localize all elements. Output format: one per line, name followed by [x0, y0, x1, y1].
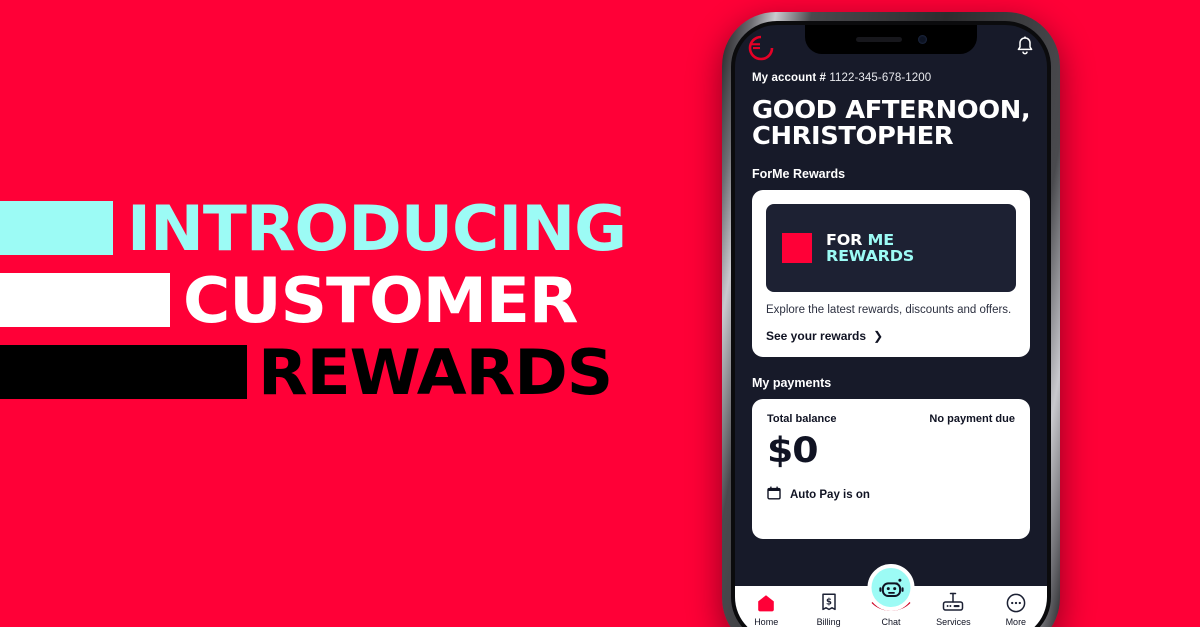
- phone-notch: [805, 25, 977, 54]
- tab-home[interactable]: Home: [735, 591, 797, 627]
- chat-bot-icon[interactable]: [868, 564, 915, 611]
- promo-line-3: REWARDS: [0, 340, 700, 408]
- notification-bell-icon[interactable]: [1015, 35, 1035, 62]
- account-number: 1122-345-678-1200: [829, 72, 931, 84]
- promo-block-white: [0, 273, 170, 327]
- phone-screen: My account # 1122-345-678-1200 GOOD AFTE…: [735, 25, 1047, 627]
- router-icon: [941, 591, 965, 613]
- section-title-payments: My payments: [752, 376, 1030, 390]
- tab-billing-label: Billing: [817, 617, 841, 627]
- tab-billing[interactable]: $ Billing: [797, 591, 859, 627]
- greeting-title: GOOD AFTERNOON, CHRISTOPHER: [752, 97, 1038, 148]
- total-balance-amount: $0: [767, 434, 1035, 469]
- account-number-row[interactable]: My account # 1122-345-678-1200: [752, 72, 1030, 84]
- rewards-card[interactable]: FOR ME REWARDS Explore the latest reward…: [752, 190, 1030, 357]
- earpiece-speaker: [856, 37, 902, 42]
- svg-text:$: $: [826, 598, 832, 608]
- banner-word-rewards: REWARDS: [826, 248, 914, 264]
- tab-more-label: More: [1006, 617, 1027, 627]
- banner-wordmark: FOR ME REWARDS: [826, 232, 914, 264]
- see-your-rewards-link[interactable]: See your rewards ❯: [766, 329, 1016, 343]
- tab-services[interactable]: Services: [922, 591, 984, 627]
- tab-chat-label: Chat: [882, 617, 901, 627]
- rewards-description: Explore the latest rewards, discounts an…: [766, 303, 1016, 318]
- calendar-icon: [767, 486, 781, 503]
- tab-home-label: Home: [754, 617, 778, 627]
- account-label: My account #: [752, 72, 826, 84]
- promo-line-2: CUSTOMER: [0, 268, 700, 336]
- phone-bezel: My account # 1122-345-678-1200 GOOD AFTE…: [731, 21, 1051, 627]
- promo-word-introducing: INTRODUCING: [127, 198, 626, 260]
- screen-content: My account # 1122-345-678-1200 GOOD AFTE…: [735, 59, 1047, 627]
- bill-dollar-icon: $: [820, 591, 838, 613]
- autopay-label: Auto Pay is on: [790, 489, 870, 501]
- total-balance-label: Total balance: [767, 413, 836, 425]
- promo-headline: INTRODUCING CUSTOMER REWARDS: [0, 196, 700, 410]
- banner-red-square-icon: [782, 233, 812, 263]
- payments-card[interactable]: Total balance No payment due $0 Auto Pay…: [752, 399, 1030, 539]
- phone-mockup: My account # 1122-345-678-1200 GOOD AFTE…: [722, 12, 1060, 627]
- home-icon: [756, 591, 776, 613]
- promo-line-1: INTRODUCING: [0, 196, 700, 264]
- tab-more[interactable]: More: [985, 591, 1047, 627]
- brand-logo-icon[interactable]: [748, 35, 774, 66]
- chevron-right-icon: ❯: [873, 329, 883, 343]
- promo-block-black: [0, 345, 247, 399]
- more-dots-icon: [1006, 591, 1026, 613]
- tab-services-label: Services: [936, 617, 971, 627]
- payments-card-header: Total balance No payment due: [767, 413, 1015, 425]
- promo-word-customer: CUSTOMER: [183, 270, 577, 332]
- see-your-rewards-label: See your rewards: [766, 329, 866, 343]
- front-camera: [918, 35, 927, 44]
- autopay-row: Auto Pay is on: [767, 486, 1015, 503]
- no-payment-due-label: No payment due: [929, 413, 1015, 425]
- promo-block-cyan: [0, 201, 113, 255]
- forme-rewards-banner: FOR ME REWARDS: [766, 204, 1016, 292]
- promo-word-rewards: REWARDS: [258, 342, 612, 404]
- section-title-rewards: ForMe Rewards: [752, 167, 1030, 181]
